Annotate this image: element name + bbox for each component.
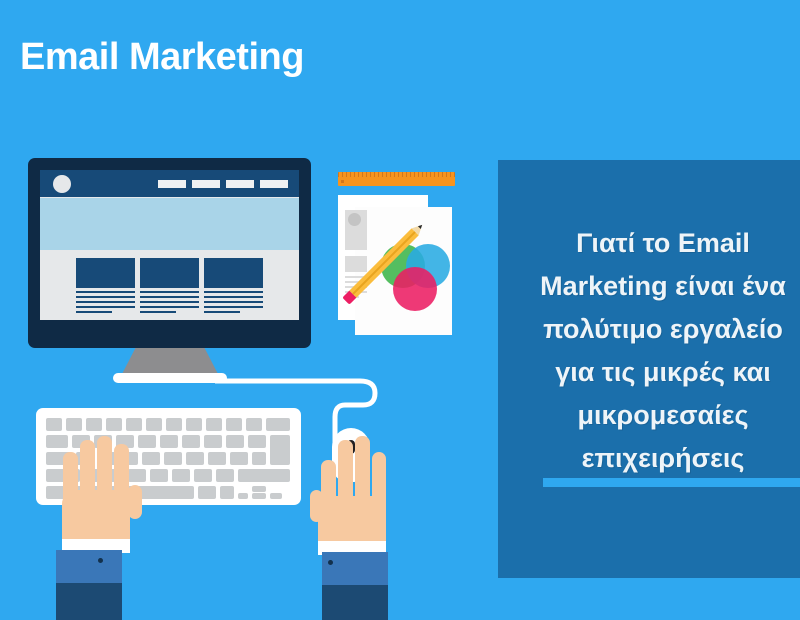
keyboard-key [238, 493, 248, 499]
website-card [76, 258, 135, 313]
paper-block-bar [345, 256, 367, 272]
paper-block-circle [348, 213, 361, 226]
quote-line: μικρομεσαίες [498, 394, 800, 437]
jacket-sleeve [322, 585, 388, 620]
keyboard-key [106, 418, 122, 431]
keyboard-key [166, 418, 182, 431]
venn-circle-pink [393, 267, 437, 311]
card-text-line [76, 296, 135, 298]
monitor-stand [122, 348, 218, 374]
keyboard-key [238, 469, 290, 482]
card-text-line [140, 291, 199, 293]
quote-accent-bar [543, 478, 800, 487]
keyboard-spacebar [198, 486, 216, 499]
keyboard-key [150, 469, 168, 482]
ruler-icon [338, 172, 455, 186]
card-text-line [76, 291, 135, 293]
keyboard-key [252, 493, 266, 499]
card-image-placeholder [204, 258, 263, 288]
keyboard-key [164, 452, 182, 465]
keyboard-key [86, 418, 102, 431]
ruler-hole [341, 180, 344, 183]
monitor-illustration [28, 158, 311, 348]
keyboard-key [194, 469, 212, 482]
sleeve-band [322, 552, 388, 586]
keyboard-key [142, 452, 160, 465]
keyboard-key [172, 469, 190, 482]
slide-canvas: Email Marketing [0, 0, 800, 620]
keyboard-key [138, 435, 156, 448]
card-text-line [76, 311, 112, 313]
card-text-line [204, 306, 263, 308]
ruler-ticks [338, 172, 455, 177]
keyboard-key [126, 418, 142, 431]
keyboard-key [128, 469, 146, 482]
website-nav-item [158, 180, 186, 188]
keyboard-key [160, 435, 178, 448]
sleeve-button [98, 558, 103, 563]
keyboard-key [186, 418, 202, 431]
card-text-line [140, 301, 199, 303]
website-nav-item [192, 180, 220, 188]
quote-panel: Γιατί το EmailMarketing είναι έναπολύτιμ… [498, 160, 800, 578]
monitor-screen [40, 170, 299, 320]
keyboard-key [208, 452, 226, 465]
card-text-line [204, 296, 263, 298]
quote-line: για τις μικρές και [498, 351, 800, 394]
keyboard-key [66, 418, 82, 431]
card-image-placeholder [140, 258, 199, 288]
card-text-line [204, 291, 263, 293]
website-card [204, 258, 263, 313]
keyboard-key [248, 435, 266, 448]
keyboard-key [182, 435, 200, 448]
website-card [140, 258, 199, 313]
sleeve-band [56, 550, 122, 584]
monitor-base [113, 373, 227, 383]
card-text-line [204, 311, 240, 313]
quote-line: πολύτιμο εργαλείο [498, 308, 800, 351]
card-text-line [140, 306, 199, 308]
card-text-line [204, 301, 263, 303]
keyboard-key [270, 435, 290, 465]
website-nav-item [226, 180, 254, 188]
keyboard-key [266, 418, 290, 431]
card-image-placeholder [76, 258, 135, 288]
website-hero-banner [40, 198, 299, 250]
website-header-bar [40, 170, 299, 197]
card-text-line [140, 311, 176, 313]
keyboard-key [46, 435, 68, 448]
card-text-line [76, 306, 135, 308]
page-title: Email Marketing [20, 36, 304, 79]
keyboard-key [46, 418, 62, 431]
quote-line: Γιατί το Email [498, 222, 800, 265]
quote-text: Γιατί το EmailMarketing είναι έναπολύτιμ… [498, 222, 800, 480]
keyboard-key [146, 418, 162, 431]
keyboard-key [220, 486, 234, 499]
keyboard-key [226, 435, 244, 448]
keyboard-key [186, 452, 204, 465]
keyboard-key [206, 418, 222, 431]
keyboard-key [252, 452, 266, 465]
hand-thumb [128, 485, 142, 519]
jacket-sleeve [56, 583, 122, 620]
keyboard-key [246, 418, 262, 431]
keyboard-key [204, 435, 222, 448]
website-content-area [40, 250, 299, 320]
keyboard-key [216, 469, 234, 482]
quote-line: επιχειρήσεις [498, 437, 800, 480]
keyboard-key [270, 493, 282, 499]
card-text-line [76, 301, 135, 303]
card-text-line [140, 296, 199, 298]
sleeve-button [328, 560, 333, 565]
quote-line: Marketing είναι ένα [498, 265, 800, 308]
website-logo-icon [53, 175, 71, 193]
website-nav-item [260, 180, 288, 188]
keyboard-key [230, 452, 248, 465]
keyboard-key [226, 418, 242, 431]
keyboard-key [252, 486, 266, 492]
